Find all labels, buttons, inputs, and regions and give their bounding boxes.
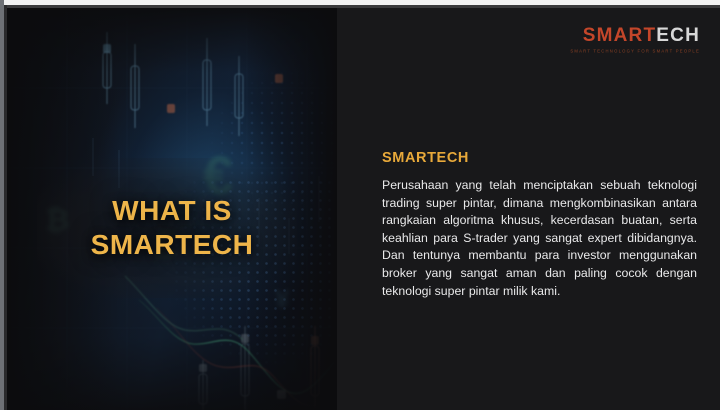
- slide-frame-left: [0, 0, 4, 410]
- logo-wordmark-smart: SMART: [583, 25, 657, 46]
- logo-tagline: SMART TECHNOLOGY FOR SMART PEOPLE: [570, 48, 700, 55]
- hero-headline: WHAT IS SMARTECH: [7, 194, 337, 262]
- hero-image-panel: ₿ € £ ¥: [7, 8, 337, 410]
- presentation-slide: ₿ € £ ¥: [0, 0, 720, 410]
- logo-wordmark-tech: ECH: [656, 25, 700, 46]
- slide-frame-top-inner: [4, 5, 720, 8]
- slide-frame-left-inner: [4, 5, 7, 410]
- smartech-logo: SMARTECH SMART TECHNOLOGY FOR SMART PEOP…: [570, 26, 700, 54]
- hero-headline-line-1: WHAT IS: [7, 194, 337, 228]
- content-title: SMARTECH: [382, 150, 697, 166]
- slide-canvas: ₿ € £ ¥: [7, 8, 720, 410]
- content-body: Perusahaan yang telah menciptakan sebuah…: [382, 177, 697, 300]
- hero-headline-line-2: SMARTECH: [7, 228, 337, 262]
- content-column: SMARTECH Perusahaan yang telah menciptak…: [382, 150, 697, 300]
- slide-frame-top: [0, 0, 720, 5]
- logo-wordmark: SMARTECH: [570, 26, 700, 46]
